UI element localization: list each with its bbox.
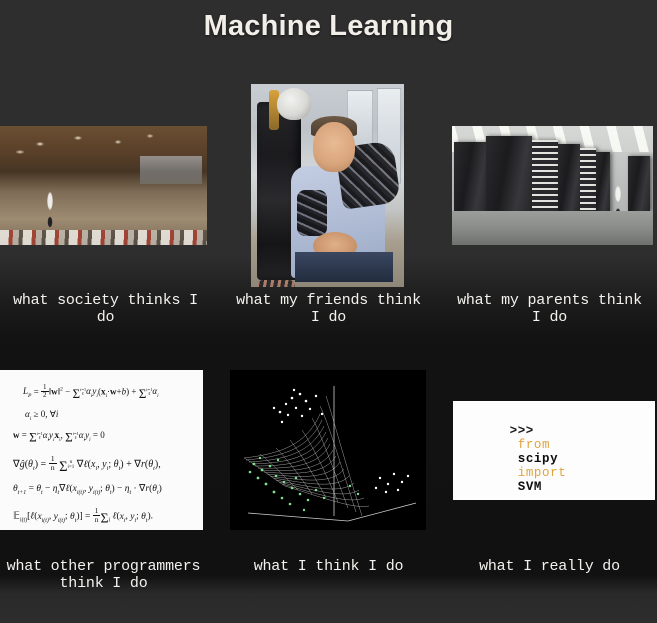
man-jeans <box>295 252 393 282</box>
panel-image-parents <box>452 126 653 245</box>
repl-prompt: >>> <box>510 424 534 438</box>
panel-caption-i-think: what I think I do <box>219 558 438 575</box>
equation-lagrangian: LP = 12‖w‖2 − Σi=1ℓαiyi(xi·w+b) + Σi=1ℓα… <box>23 384 194 400</box>
server-rack <box>454 142 488 220</box>
equation-sgd-update: θt+1 = θt − ηt∇ℓ(xi(t), yi(t); θt) − ηt … <box>13 483 194 496</box>
svm-hyperplane-svg <box>230 370 426 530</box>
server-rack-front-panel <box>580 148 596 216</box>
robot-arm-lower <box>297 190 327 236</box>
panel-caption-i-really-do: what I really do <box>440 558 657 575</box>
server-rack-front-panel <box>532 140 558 220</box>
meme-title: Machine Learning <box>204 10 454 43</box>
caption-line-2: I do <box>532 309 567 326</box>
caption-line-2: I do <box>311 309 346 326</box>
module-name: scipy <box>518 452 559 466</box>
server-rack <box>558 144 580 218</box>
panel-caption-other-programmers: what other programmers think I do <box>0 558 213 592</box>
panel-image-friends <box>251 84 404 287</box>
panel-caption-society: what society thinks I do <box>0 292 215 326</box>
panel-caption-parents: what my parents think I do <box>440 292 657 326</box>
caption-line-1: what my friends think <box>236 292 421 309</box>
repl-line: >>> from scipy import SVM <box>461 410 647 500</box>
keyword-from: from <box>518 438 550 452</box>
caption-line-1: what society thinks I <box>13 292 198 309</box>
panel-image-svm-plot <box>230 370 426 530</box>
equation-gradient-estimate: ∇ĝ(θt) = 1n Σni=1 ∇ℓ(xi, yi; θt) + ∇r(θt… <box>13 455 194 472</box>
keyword-import: import <box>518 466 567 480</box>
panel-image-society <box>0 126 207 245</box>
server-rack <box>628 156 650 212</box>
caption-line-1: what my parents think <box>457 292 642 309</box>
panel-image-equations: LP = 12‖w‖2 − Σi=1ℓαiyi(xi·w+b) + Σi=1ℓα… <box>0 370 203 530</box>
caption-line-1: what I really do <box>479 558 620 575</box>
equation-alpha-constraint: αi ≥ 0, ∀i <box>25 409 194 422</box>
man-face <box>313 122 355 172</box>
equation-expectation: 𝔼i(t)[ℓ(xi(t), yi(t); θt)] = 1nΣi ℓ(xi, … <box>13 507 194 523</box>
meme-image: Machine Learning what society thinks I d… <box>0 0 657 623</box>
equation-w-expansion: w = Σi=1ℓαiyixi, Σi=1ℓαiyi = 0 <box>13 430 194 443</box>
robot-gripper-hand <box>257 280 295 287</box>
server-rack <box>486 136 532 222</box>
plot-background <box>230 370 426 530</box>
caption-line-2: do <box>97 309 115 326</box>
server-rack <box>596 152 610 214</box>
caption-line-1: what other programmers <box>7 558 201 575</box>
imported-symbol: SVM <box>518 480 542 494</box>
caption-line-1: what I think I do <box>254 558 404 575</box>
panel-caption-friends: what my friends think I do <box>219 292 438 326</box>
caption-line-2: think I do <box>59 575 147 592</box>
data-center-floor <box>452 211 653 245</box>
robot-head <box>277 88 311 120</box>
meme-title-bar: Machine Learning <box>0 0 657 52</box>
panel-image-python-repl: >>> from scipy import SVM <box>453 401 655 500</box>
